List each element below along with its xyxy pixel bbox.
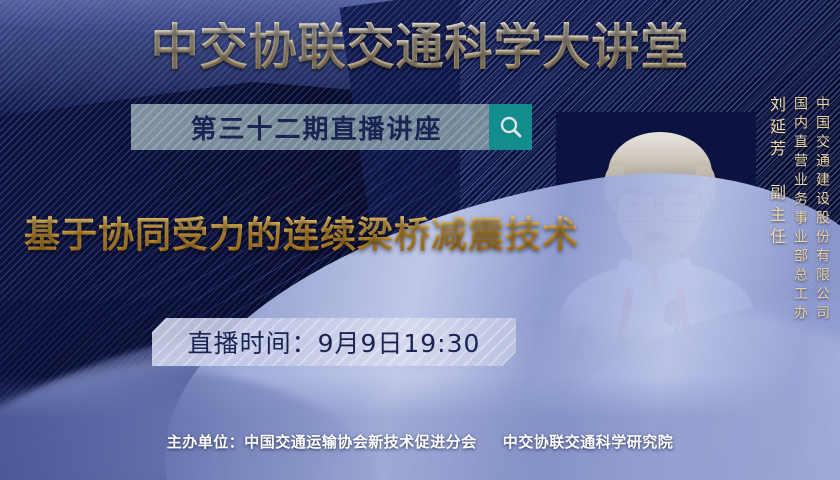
subtitle-label: 第三十二期直播讲座 bbox=[131, 104, 520, 150]
subtitle-bar: 第三十二期直播讲座 bbox=[131, 104, 520, 150]
broadcast-time-chip: 直播时间：9月9日19:30 bbox=[152, 318, 516, 366]
speaker-department: 国内直营业务事业部总工办 bbox=[788, 96, 810, 324]
broadcast-time-label: 直播时间：9月9日19:30 bbox=[188, 324, 481, 360]
organizer-primary: 中国交通运输协会新技术促进分会 bbox=[244, 433, 477, 451]
speaker-name-title: 刘延芳 副主任 bbox=[762, 96, 788, 250]
live-lecture-poster: 中交协联交通科学大讲堂 第三十二期直播讲座 基于协同受力的连续梁桥减震技术 直播… bbox=[0, 0, 840, 480]
organizer-secondary: 中交协联交通科学研究院 bbox=[503, 433, 674, 451]
lecture-headline: 基于协同受力的连续梁桥减震技术 bbox=[24, 206, 579, 258]
speaker-company: 中国交通建设股份有限公司 bbox=[810, 96, 832, 324]
page-title: 中交协联交通科学大讲堂 bbox=[17, 22, 823, 72]
speaker-credit-block: 刘延芳 副主任 国内直营业务事业部总工办 中国交通建设股份有限公司 bbox=[762, 96, 832, 324]
organizer-footer: 主办单位：中国交通运输协会新技术促进分会中交协联交通科学研究院 bbox=[0, 431, 840, 452]
lecture-headline-text: 基于协同受力的连续梁桥减震技术 bbox=[24, 215, 579, 256]
organizer-prefix: 主办单位： bbox=[167, 433, 245, 451]
search-icon[interactable] bbox=[489, 104, 532, 150]
footer-band bbox=[0, 376, 840, 480]
